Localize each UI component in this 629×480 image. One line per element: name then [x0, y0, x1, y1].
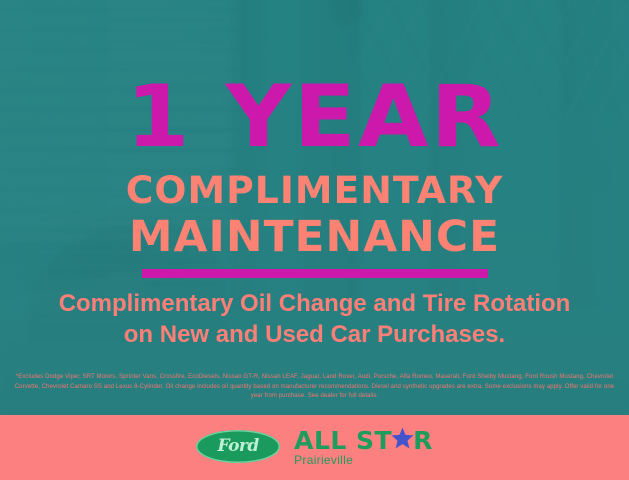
all-star-logo[interactable]: ALL ST R Prairieville	[294, 428, 433, 467]
headline-year: 1 YEAR	[0, 74, 629, 160]
magenta-divider-bar	[142, 269, 488, 278]
headline-maintenance: MAINTENANCE	[0, 216, 629, 259]
headline-complimentary: COMPLIMENTARY	[0, 172, 629, 209]
ford-logo[interactable]: Ford	[196, 430, 280, 463]
disclaimer-text: *Excludes Dodge Viper, SRT Motors, Sprin…	[14, 373, 615, 402]
subcopy-block: Complimentary Oil Change and Tire Rotati…	[0, 288, 629, 350]
all-star-location: Prairieville	[294, 454, 433, 467]
ford-wordmark: Ford	[217, 436, 258, 456]
all-star-text-right: R	[413, 428, 433, 453]
all-star-wordmark: ALL ST R	[294, 428, 433, 453]
footer-bar: Ford ALL ST R Prairieville	[0, 415, 629, 480]
all-star-text-left: ALL ST	[294, 428, 392, 453]
ad-content: 1 YEAR COMPLIMENTARY MAINTENANCE Complim…	[0, 0, 629, 480]
star-icon	[391, 427, 414, 450]
subcopy-line-1: Complimentary Oil Change and Tire Rotati…	[0, 288, 629, 319]
subcopy-line-2: on New and Used Car Purchases.	[0, 319, 629, 350]
logo-lockup: Ford ALL ST R Prairieville	[0, 427, 629, 466]
promotional-ad: 1 YEAR COMPLIMENTARY MAINTENANCE Complim…	[0, 0, 629, 480]
